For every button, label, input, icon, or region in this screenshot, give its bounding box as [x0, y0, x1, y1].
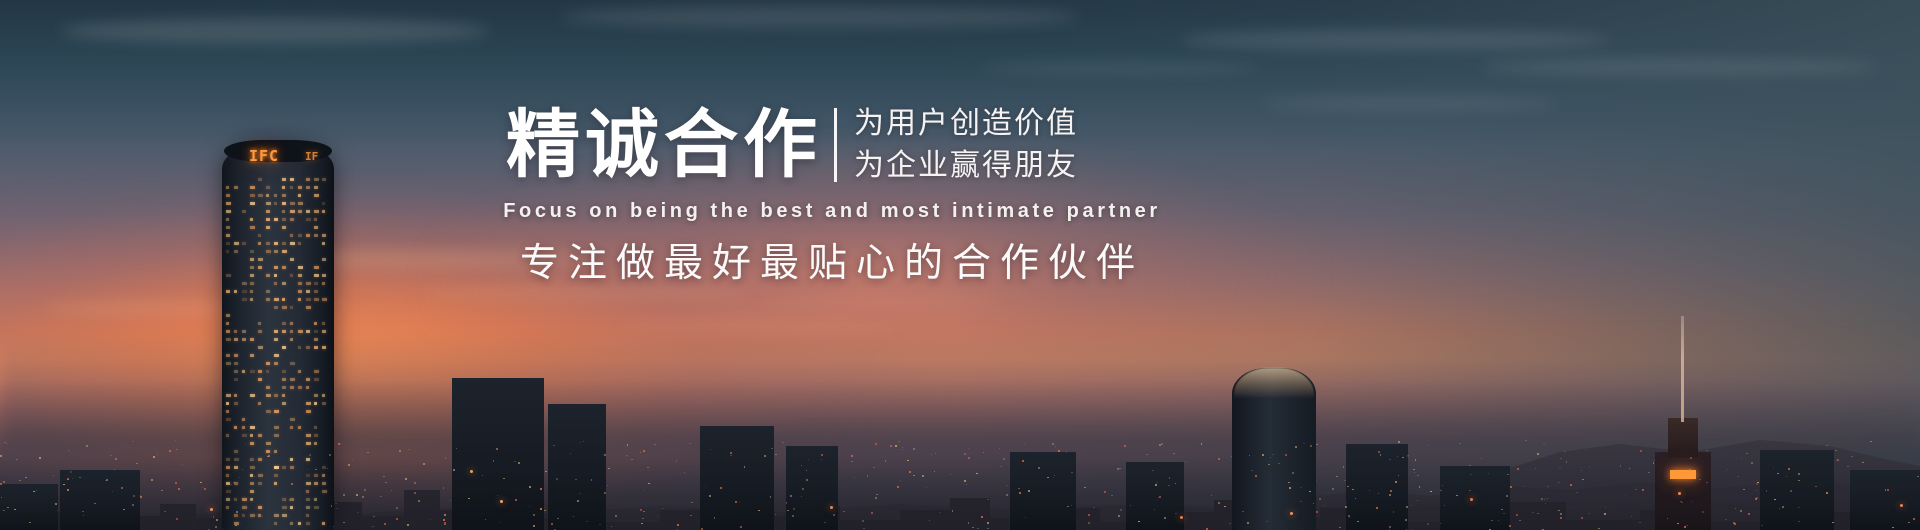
page-title: 精诚合作	[506, 102, 822, 188]
subtitle-chinese: 专注做最好最贴心的合作伙伴	[0, 232, 1792, 288]
subtitle-english: Focus on being the best and most intimat…	[0, 200, 1792, 223]
hero-banner: IFC IF 精诚合作 为用户创造价值 为企业赢得朋友 Focus on bei…	[0, 0, 1920, 530]
headline-row: 精诚合作 为用户创造价值 为企业赢得朋友	[0, 102, 1920, 188]
banner-copy: 精诚合作 为用户创造价值 为企业赢得朋友 Focus on being the …	[0, 0, 1920, 530]
title-divider	[834, 108, 837, 182]
tagline-line-1: 为用户创造价值	[854, 103, 1078, 145]
tagline-group: 为用户创造价值 为企业赢得朋友	[854, 102, 1078, 188]
tagline-line-2: 为企业赢得朋友	[854, 145, 1078, 187]
